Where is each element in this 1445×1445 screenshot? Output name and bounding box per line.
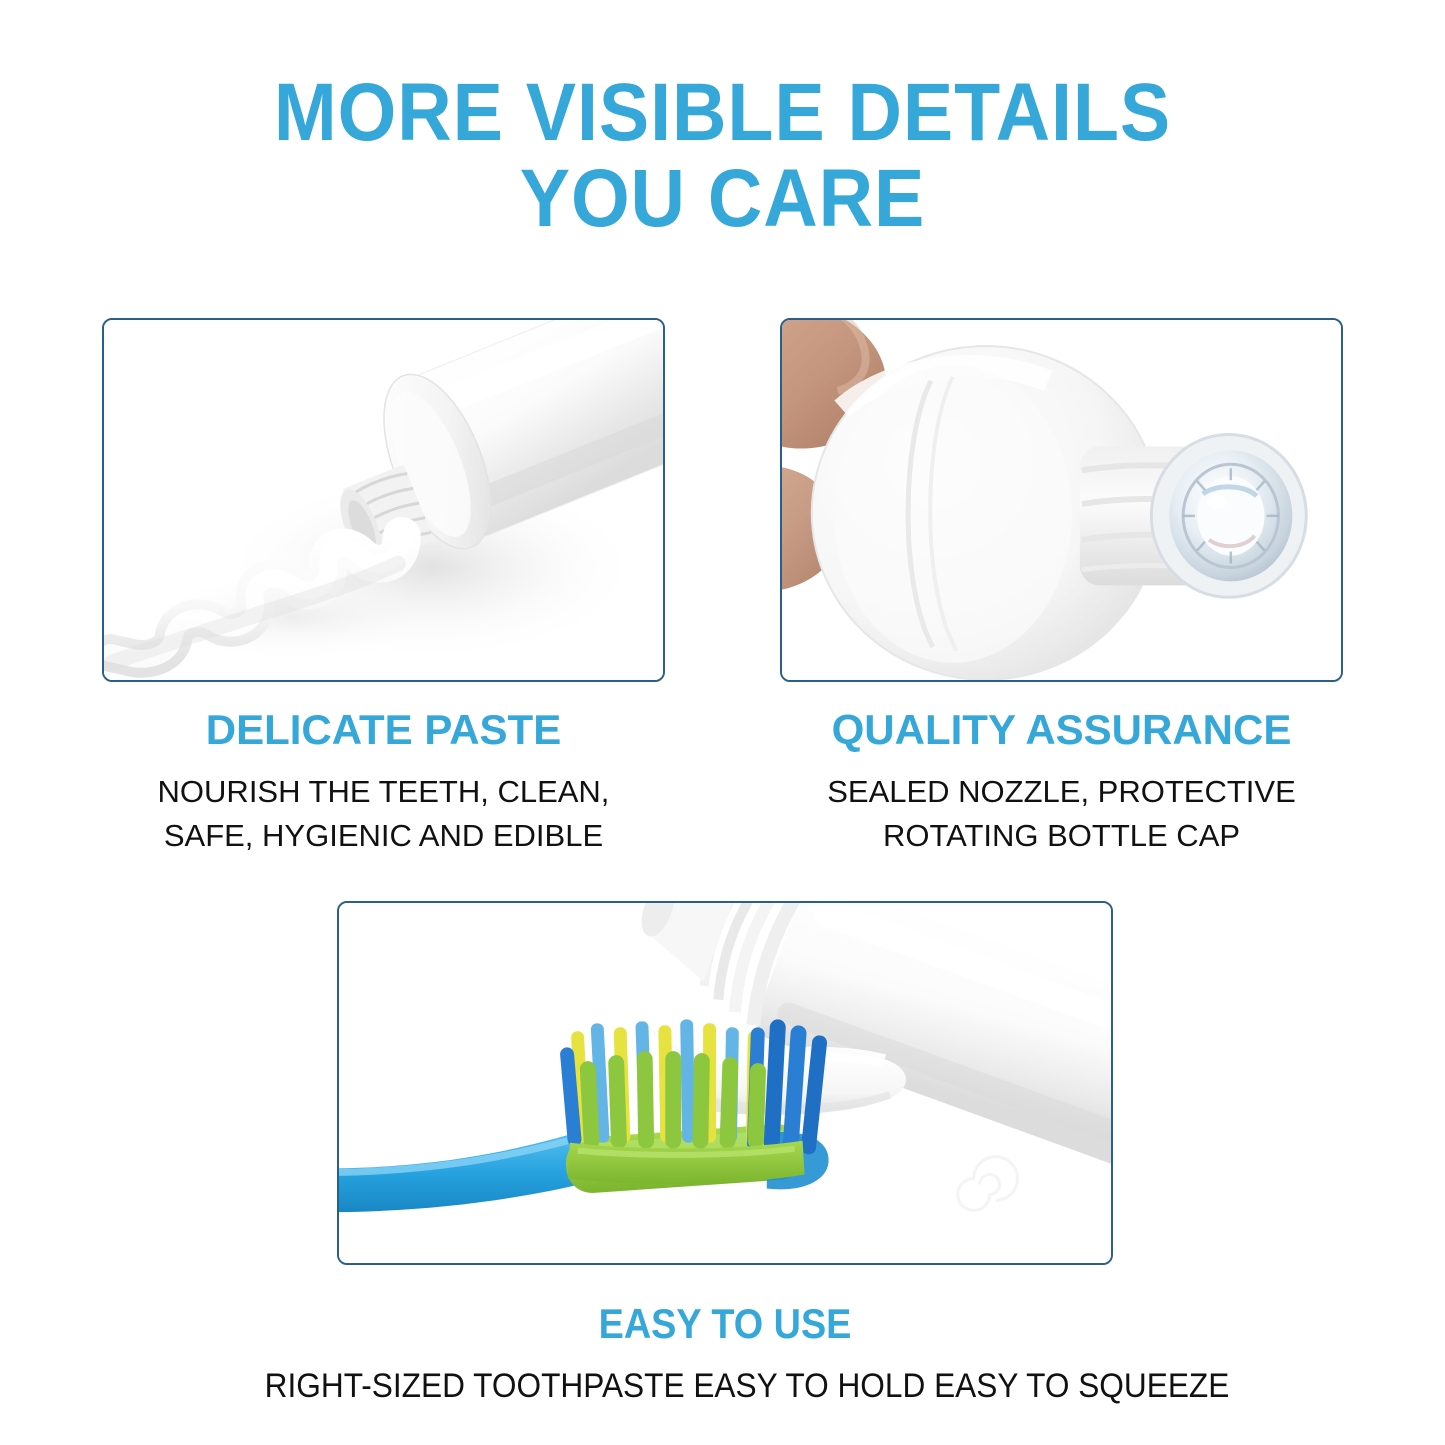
feature-heading-easy-to-use: EASY TO USE	[280, 1300, 1171, 1348]
caption-quality-assurance: QUALITY ASSURANCE SEALED NOZZLE, PROTECT…	[780, 706, 1343, 858]
toothbrush-with-paste-illustration	[339, 903, 1111, 1263]
feature-body-line-2: SAFE, HYGIENIC AND EDIBLE	[102, 814, 665, 858]
feature-body-easy-to-use: RIGHT-SIZED TOOTHPASTE EASY TO HOLD EASY…	[265, 1364, 1186, 1408]
feature-image-quality-assurance	[780, 318, 1343, 682]
feature-body-line-1: NOURISH THE TEETH, CLEAN,	[102, 770, 665, 814]
feature-heading-delicate-paste: DELICATE PASTE	[102, 706, 665, 754]
caption-easy-to-use: EASY TO USE RIGHT-SIZED TOOTHPASTE EASY …	[230, 1300, 1220, 1408]
title-line-2: YOU CARE	[58, 156, 1387, 242]
toothpaste-tube-illustration	[104, 320, 663, 680]
feature-image-easy-to-use	[337, 901, 1113, 1265]
page-title: MORE VISIBLE DETAILS YOU CARE	[0, 70, 1445, 242]
feature-body-quality-assurance: SEALED NOZZLE, PROTECTIVE ROTATING BOTTL…	[780, 770, 1343, 858]
feature-body-line-1: RIGHT-SIZED TOOTHPASTE EASY TO HOLD EASY…	[265, 1364, 1186, 1408]
feature-heading-quality-assurance: QUALITY ASSURANCE	[780, 706, 1343, 754]
feature-image-delicate-paste	[102, 318, 665, 682]
feature-body-delicate-paste: NOURISH THE TEETH, CLEAN, SAFE, HYGIENIC…	[102, 770, 665, 858]
title-line-1: MORE VISIBLE DETAILS	[58, 70, 1387, 156]
feature-body-line-1: SEALED NOZZLE, PROTECTIVE	[780, 770, 1343, 814]
feature-body-line-2: ROTATING BOTTLE CAP	[780, 814, 1343, 858]
caption-delicate-paste: DELICATE PASTE NOURISH THE TEETH, CLEAN,…	[102, 706, 665, 858]
sealed-nozzle-illustration	[782, 320, 1341, 680]
product-infographic: MORE VISIBLE DETAILS YOU CARE	[0, 0, 1445, 1445]
